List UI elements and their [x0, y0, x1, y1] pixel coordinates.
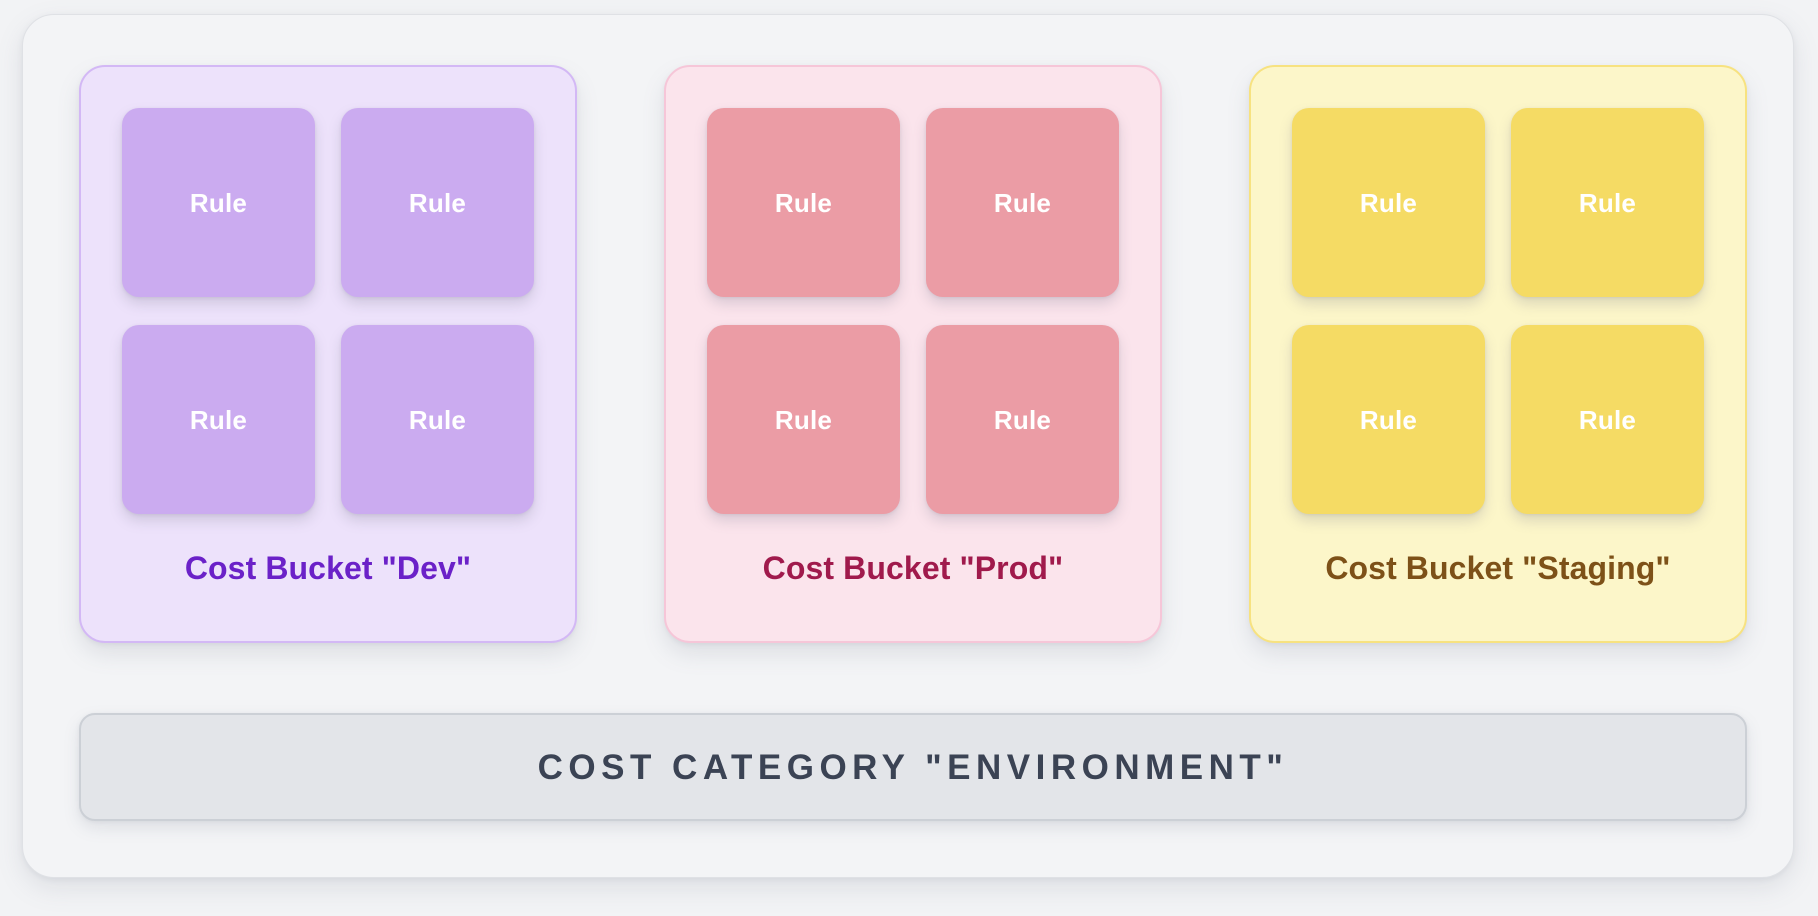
rule-tile[interactable]: Rule: [341, 108, 534, 297]
rule-tile-label: Rule: [775, 407, 832, 433]
cost-bucket-card-dev[interactable]: Rule Rule Rule Rule Cost Bucket "Dev": [79, 65, 577, 643]
cost-bucket-card-staging[interactable]: Rule Rule Rule Rule Cost Bucket "Staging…: [1249, 65, 1747, 643]
cost-bucket-title-dev: Cost Bucket "Dev": [185, 552, 471, 584]
rule-tile-label: Rule: [190, 190, 247, 216]
rule-tile-label: Rule: [775, 190, 832, 216]
rule-tile[interactable]: Rule: [1292, 325, 1485, 514]
rule-tile-label: Rule: [1360, 407, 1417, 433]
rule-tile[interactable]: Rule: [707, 108, 900, 297]
cost-category-bar-label: COST CATEGORY "ENVIRONMENT": [538, 750, 1289, 785]
rule-tile-label: Rule: [1579, 407, 1636, 433]
rule-tile-label: Rule: [1360, 190, 1417, 216]
rule-tile[interactable]: Rule: [1511, 325, 1704, 514]
rule-tile-label: Rule: [994, 407, 1051, 433]
rule-tile-label: Rule: [1579, 190, 1636, 216]
rule-tile-label: Rule: [994, 190, 1051, 216]
rule-tile[interactable]: Rule: [926, 325, 1119, 514]
cost-bucket-title-staging: Cost Bucket "Staging": [1325, 552, 1670, 584]
rule-grid-staging: Rule Rule Rule Rule: [1292, 108, 1704, 514]
rule-tile-label: Rule: [190, 407, 247, 433]
cost-bucket-title-prod: Cost Bucket "Prod": [763, 552, 1064, 584]
rule-tile[interactable]: Rule: [707, 325, 900, 514]
rule-tile[interactable]: Rule: [926, 108, 1119, 297]
cost-category-diagram: Rule Rule Rule Rule Cost Bucket "Dev" Ru…: [22, 14, 1794, 878]
rule-tile[interactable]: Rule: [341, 325, 534, 514]
rule-tile[interactable]: Rule: [1292, 108, 1485, 297]
rule-grid-prod: Rule Rule Rule Rule: [707, 108, 1119, 514]
rule-tile[interactable]: Rule: [122, 325, 315, 514]
rule-tile-label: Rule: [409, 407, 466, 433]
rule-tile[interactable]: Rule: [1511, 108, 1704, 297]
rule-tile-label: Rule: [409, 190, 466, 216]
rule-tile[interactable]: Rule: [122, 108, 315, 297]
cost-bucket-row: Rule Rule Rule Rule Cost Bucket "Dev" Ru…: [79, 65, 1747, 651]
rule-grid-dev: Rule Rule Rule Rule: [122, 108, 534, 514]
cost-category-bar[interactable]: COST CATEGORY "ENVIRONMENT": [79, 713, 1747, 821]
cost-bucket-card-prod[interactable]: Rule Rule Rule Rule Cost Bucket "Prod": [664, 65, 1162, 643]
